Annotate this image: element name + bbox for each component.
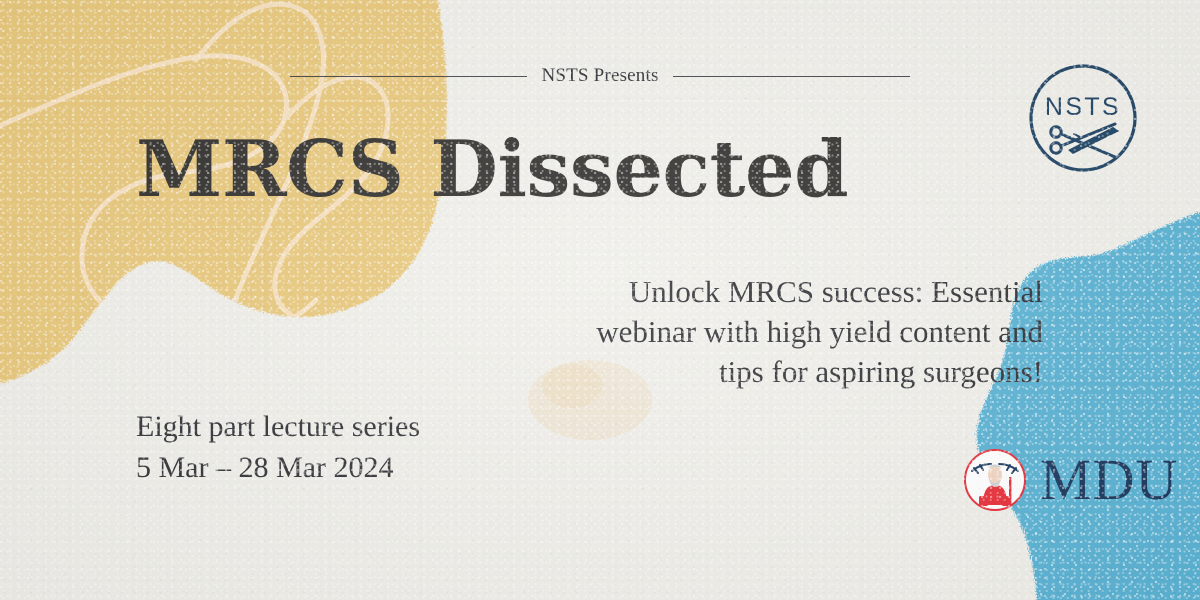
nsts-wordmark: NSTS (1045, 93, 1121, 121)
page-title: MRCS Dissected (136, 131, 848, 209)
subtitle-line: webinar with high yield content and (596, 314, 1043, 349)
subtitle: Unlock MRCS success: Essential webinar w… (523, 272, 1043, 392)
subtitle-line: Unlock MRCS success: Essential (629, 274, 1043, 309)
mdu-wordmark: MDU (1040, 451, 1178, 509)
poster-canvas: NSTS Presents MRCS Dissected Unlock MRCS… (0, 0, 1200, 600)
subtitle-line: tips for aspiring surgeons! (719, 354, 1043, 389)
kicker: NSTS Presents (290, 62, 910, 90)
series-label: Eight part lecture series (136, 406, 420, 447)
series-info: Eight part lecture series 5 Mar – 28 Mar… (136, 406, 420, 488)
nsts-logo: NSTS (1027, 62, 1139, 174)
kicker-rule-left (290, 76, 527, 77)
mdu-emblem-icon (962, 447, 1028, 513)
kicker-rule-right (673, 76, 910, 77)
kicker-label: NSTS Presents (541, 65, 658, 87)
forceps-icon (1051, 124, 1115, 157)
date-range: 5 Mar – 28 Mar 2024 (136, 447, 420, 488)
mdu-logo: MDU (962, 444, 1178, 516)
